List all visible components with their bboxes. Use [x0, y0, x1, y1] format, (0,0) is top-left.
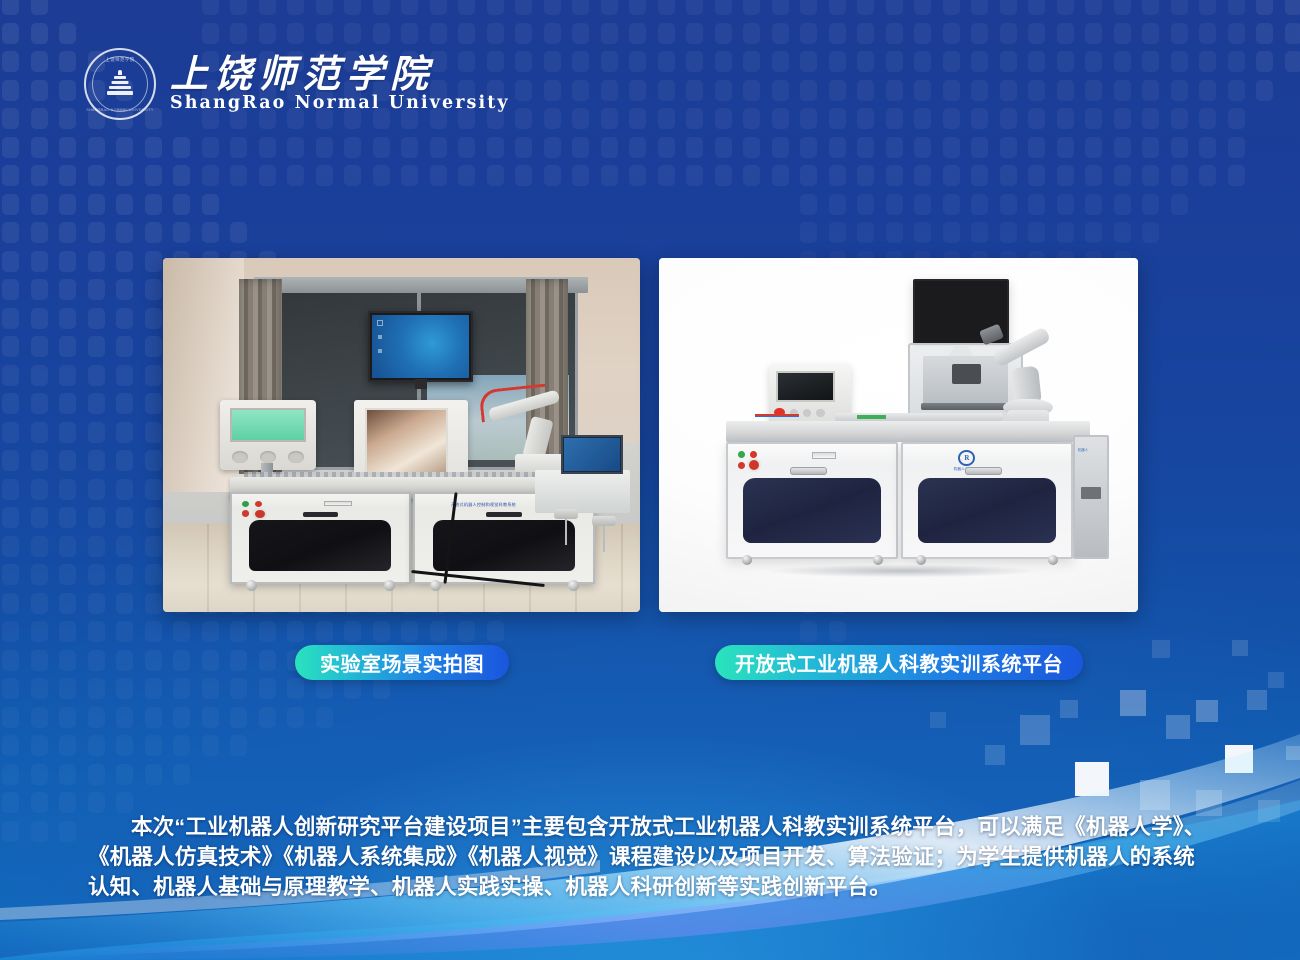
background-light-swoosh: [0, 660, 1300, 960]
university-name-cn: 上饶师范学院: [170, 55, 510, 93]
hmi-display: [230, 408, 306, 442]
worktable-green-module: [857, 415, 886, 419]
seal-pagoda-glyph: [107, 70, 133, 100]
desk-monitor: [561, 435, 623, 474]
slide-root: 上饶师范学院 SHANGRAO NORMAL UNIVERSITY 上饶师范学院…: [0, 0, 1300, 960]
stool-1: [554, 509, 578, 544]
description-paragraph: 本次“工业机器人创新研究平台建设项目”主要包含开放式工业机器人科教实训系统平台，…: [88, 812, 1208, 902]
lab-scene-illustration: 开放式机器人控制和视觉科教系统: [163, 258, 640, 612]
emergency-stop-button: [255, 510, 265, 518]
stool-2: [592, 516, 616, 551]
wall-monitor: [368, 311, 473, 382]
hmi-touchscreen: [776, 371, 835, 402]
product-cabinet-left: [726, 442, 898, 559]
monitor-stand: [415, 379, 427, 389]
side-cabinet-vent: [1081, 487, 1101, 499]
cabinet-slot: [324, 501, 352, 506]
description-line-1: 本次“工业机器人创新研究平台建设项目”主要包含开放式工业机器人科教实训系统平台，…: [88, 812, 1208, 842]
red-indicator-2: [738, 462, 745, 469]
product-side-cabinet: 机器人: [1073, 435, 1109, 559]
product-ground-shadow: [716, 562, 1090, 580]
caption-pill-product-platform[interactable]: 开放式工业机器人科教实训系统平台: [715, 645, 1083, 680]
green-button: [242, 501, 249, 507]
photo-product-render: R 机器人创新工坊 机器人: [659, 258, 1138, 612]
enclosure-glass: [365, 408, 447, 474]
cabinet-handle-2: [486, 512, 521, 517]
monitor-screen: [372, 315, 469, 378]
cabinet-handle: [303, 512, 338, 517]
university-name-en: ShangRao Normal University: [170, 95, 510, 113]
cabinet-slot-product: [812, 452, 836, 459]
cabinet-window-product-2: [918, 478, 1056, 543]
cabinet-window-product: [743, 478, 881, 543]
cabinet-handle-product: [790, 467, 827, 475]
red-button-2: [242, 510, 249, 516]
hmi-control-panel: [220, 400, 315, 471]
green-indicator: [738, 451, 745, 458]
red-button: [255, 501, 262, 507]
cabinet-window-panel: [249, 520, 391, 571]
machine-label-text: 开放式机器人控制和视觉科教系统: [451, 502, 516, 508]
seal-bottom-text: SHANGRAO NORMAL UNIVERSITY: [86, 108, 154, 112]
university-seal-icon: 上饶师范学院 SHANGRAO NORMAL UNIVERSITY: [84, 48, 156, 120]
product-render-illustration: R 机器人创新工坊 机器人: [659, 258, 1138, 612]
side-desk: [535, 470, 630, 512]
cabinet-left: [230, 492, 411, 584]
side-cabinet-label: 机器人: [1078, 447, 1088, 452]
hmi-buttons: [232, 451, 304, 464]
worktable-blue-strip: [755, 416, 799, 417]
brand-r-logo-icon: R: [958, 450, 975, 467]
product-worktable: [726, 421, 1090, 442]
caption-pill-lab-photo[interactable]: 实验室场景实拍图: [295, 645, 509, 680]
description-line-3: 认知、机器人基础与原理教学、机器人实践实操、机器人科研创新等实践创新平台。: [88, 872, 1208, 902]
cabinet-estop-button: [749, 460, 759, 470]
cabinet-handle-product-2: [965, 467, 1002, 475]
university-logo: 上饶师范学院 SHANGRAO NORMAL UNIVERSITY 上饶师范学院…: [84, 48, 510, 120]
description-line-2: 《机器人仿真技术》《机器人系统集成》《机器人视觉》课程建设以及项目开发、算法验证…: [88, 842, 1208, 872]
seal-top-text: 上饶师范学院: [86, 57, 154, 63]
product-cabinet-right: R 机器人创新工坊: [901, 442, 1073, 559]
photo-lab-scene: 开放式机器人控制和视觉科教系统: [163, 258, 640, 612]
university-name-block: 上饶师范学院 ShangRao Normal University: [170, 55, 510, 113]
red-indicator: [750, 451, 757, 458]
